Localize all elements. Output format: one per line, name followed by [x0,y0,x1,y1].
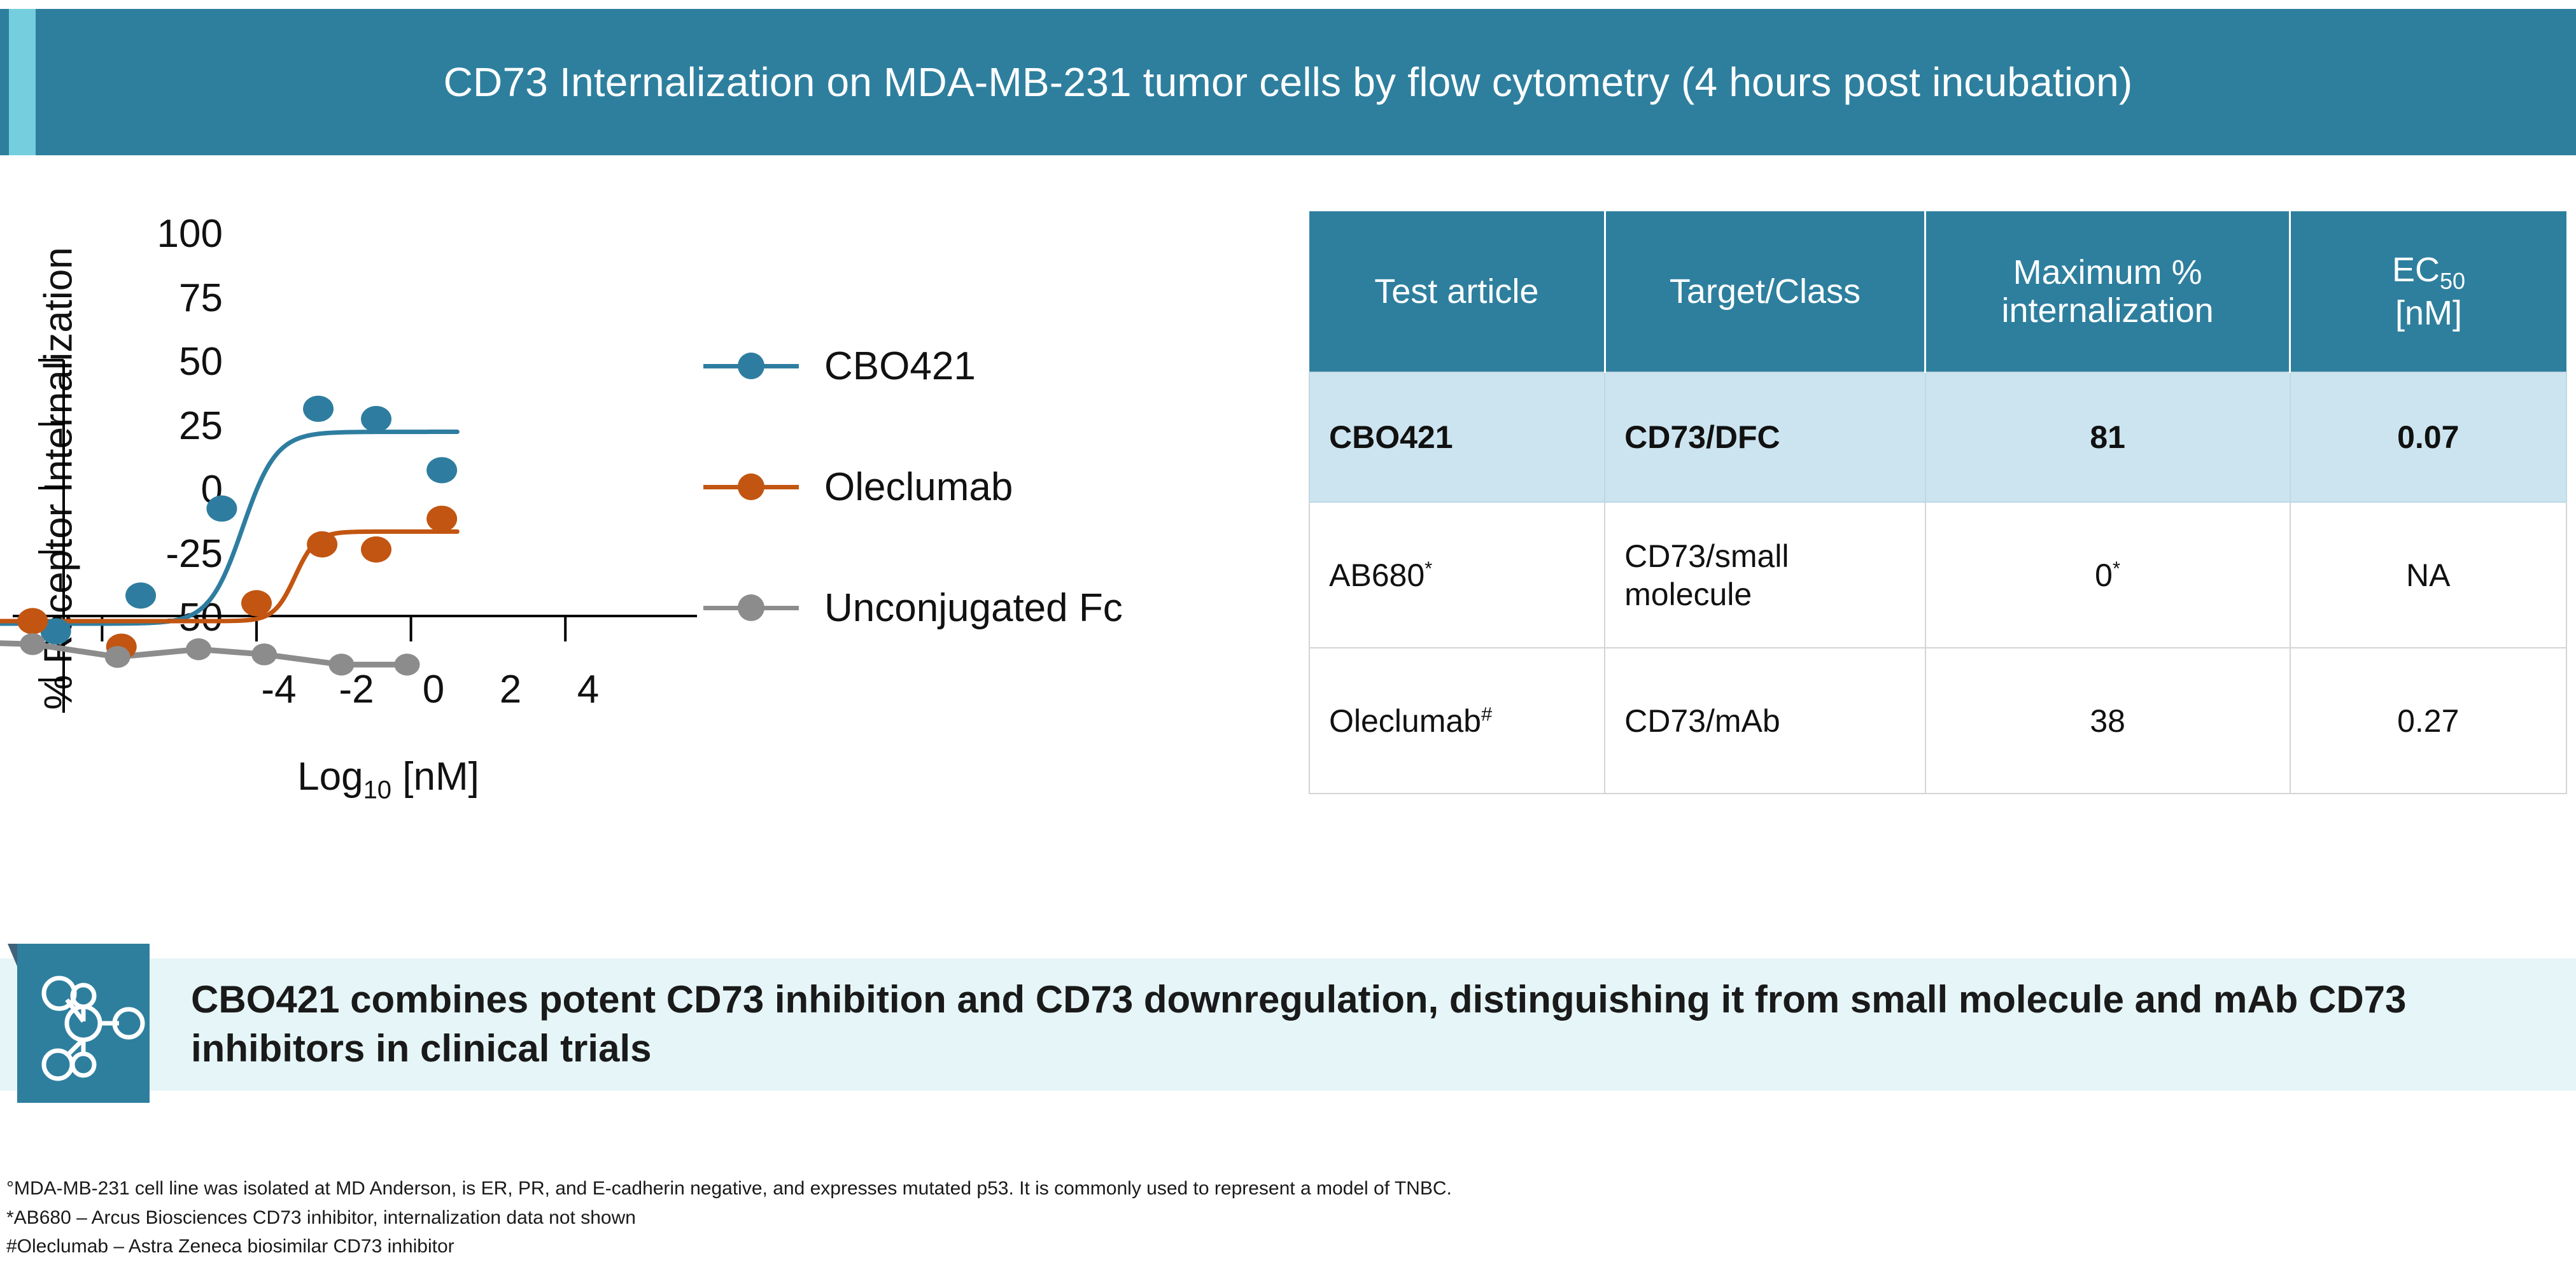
cell-test-article: CBO421 [1309,372,1605,502]
header-line-1: EC [2392,251,2440,289]
chart-panel: % Receptor Internalization 100 75 50 25 … [0,191,1248,904]
cell-ec50: 0.07 [2290,372,2567,502]
footnote-ab680: *AB680 – Arcus Biosciences CD73 inhibito… [6,1203,2298,1233]
column-header-ec50: EC50 [nM] [2290,211,2567,372]
footnote-marker: * [2113,557,2120,579]
table-row: CBO421 CD73/DFC 81 0.07 [1309,372,2566,502]
cell-ec50: 0.27 [2290,648,2567,794]
legend-label: Unconjugated Fc [824,585,1123,631]
results-table-container: Test article Target/Class Maximum % inte… [1309,211,2567,794]
legend-marker-cbo421 [703,347,799,385]
legend-label: Oleclumab [824,465,1013,510]
header-line-2: internalization [2002,291,2214,330]
chart-legend: CBO421 Oleclumab Unconjugated Fc [703,305,1232,668]
callout-icon-container [17,944,150,1103]
column-header-max-internalization: Maximum % internalization [1925,211,2290,372]
cell-target-class: CD73/DFC [1605,372,1925,502]
cell-test-article: AB680* [1309,502,1605,648]
molecule-network-icon [17,944,150,1103]
cell-max-internalization: 81 [1925,372,2290,502]
cell-ec50: NA [2290,502,2567,648]
cell-max-internalization: 38 [1925,648,2290,794]
title-accent-bar [9,9,36,155]
footnote-oleclumab: #Oleclumab – Astra Zeneca biosimilar CD7… [6,1232,2298,1261]
header-subscript: 50 [2440,268,2465,294]
key-message-callout: CBO421 combines potent CD73 inhibition a… [0,958,2576,1091]
page-title: CD73 Internalization on MDA-MB-231 tumor… [444,59,2133,106]
column-header-test-article: Test article [1309,211,1605,372]
legend-item-unconjugated-fc: Unconjugated Fc [703,547,1232,668]
header-line-1: Maximum % [2013,253,2202,291]
cell-target-class: CD73/mAb [1605,648,1925,794]
table-row: AB680* CD73/small molecule 0* NA [1309,502,2566,648]
cell-max-internalization: 0* [1925,502,2290,648]
callout-message: CBO421 combines potent CD73 inhibition a… [191,976,2533,1074]
column-header-target-class: Target/Class [1605,211,1925,372]
chart-plot-area [0,191,713,713]
legend-item-cbo421: CBO421 [703,305,1232,426]
table-header-row: Test article Target/Class Maximum % inte… [1309,211,2566,372]
footnote-cell-line: °MDA-MB-231 cell line was isolated at MD… [6,1174,2298,1203]
legend-marker-oleclumab [703,468,799,506]
footnotes-block: °MDA-MB-231 cell line was isolated at MD… [6,1174,2298,1261]
legend-item-oleclumab: Oleclumab [703,426,1232,547]
footnote-marker: # [1481,703,1492,725]
chart-x-axis-label: Log10 [nM] [210,754,567,804]
title-banner: CD73 Internalization on MDA-MB-231 tumor… [0,9,2576,155]
footnote-marker: * [1425,557,1432,579]
legend-label: CBO421 [824,344,976,389]
cell-test-article: Oleclumab# [1309,648,1605,794]
cell-target-class: CD73/small molecule [1605,502,1925,648]
results-table: Test article Target/Class Maximum % inte… [1309,211,2567,794]
legend-marker-unconjugated-fc [703,589,799,627]
header-line-2: [nM] [2395,294,2462,332]
table-row: Oleclumab# CD73/mAb 38 0.27 [1309,648,2566,794]
